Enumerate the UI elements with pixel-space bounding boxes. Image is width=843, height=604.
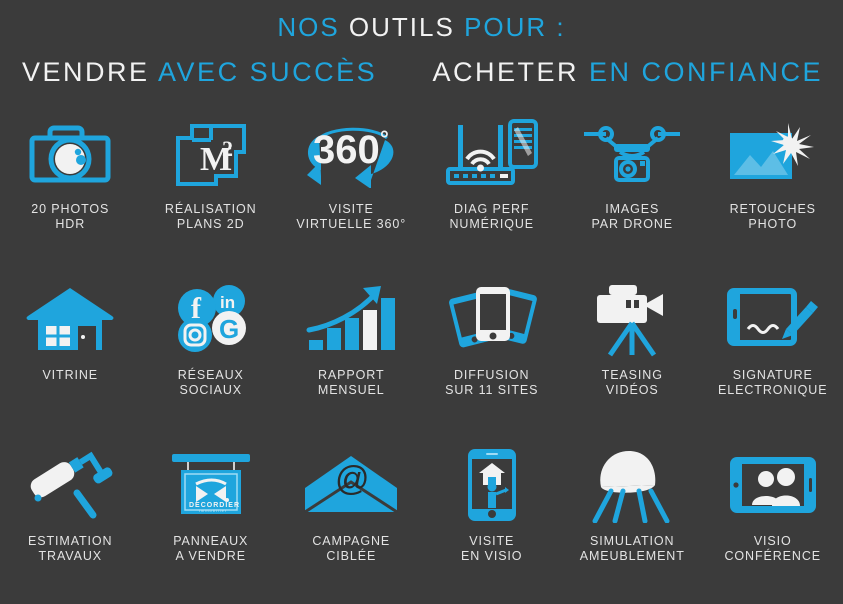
subtitle-left: VENDRE AVEC SUCCÈS [22,57,377,88]
tool-caption: VISITE EN VISIO [461,534,522,564]
tool-caption-line2: PHOTO [730,217,816,232]
tool-caption: PANNEAUX A VENDRE [173,534,248,564]
tool-photo-retouch[interactable]: RETOUCHES PHOTO [703,106,843,272]
title-part-pour: POUR : [464,12,566,42]
tool-caption-line1: SIGNATURE [718,368,827,383]
tool-caption-line1: PANNEAUX [173,534,248,549]
shop-window-icon [15,280,125,358]
tool-monthly-report[interactable]: RAPPORT MENSUEL [281,272,422,438]
tool-caption: TEASING VIDÉOS [602,368,663,398]
subtitle-right-en-confiance: EN CONFIANCE [589,57,823,87]
tool-caption-line2: VIDÉOS [602,383,663,398]
tool-caption-line2: SUR 11 SITES [445,383,538,398]
tool-caption: VITRINE [42,368,98,383]
tool-caption-line2: CIBLÉE [312,549,390,564]
tool-works-estimate[interactable]: ESTIMATION TRAVAUX [0,438,141,604]
tool-caption-line1: DIAG PERF [450,202,535,217]
social-networks-icon: in f G [156,280,266,358]
poster-root: NOS OUTILS POUR : VENDRE AVEC SUCCÈS ACH… [0,0,843,600]
paint-roller-icon [15,446,125,524]
subtitle-right: ACHETER EN CONFIANCE [432,57,823,88]
tool-social-networks[interactable]: in f G RÉSEAUX SOCIAUX [141,272,282,438]
degree-symbol: ° [380,126,389,151]
tool-teasing-videos[interactable]: TEASING VIDÉOS [562,272,703,438]
tools-grid: 20 PHOTOS HDR M 2 RÉALISATION PLANS 2D [0,106,843,604]
tool-caption-line1: RÉSEAUX [178,368,244,383]
tool-drone[interactable]: IMAGES PAR DRONE [562,106,703,272]
tool-caption: IMAGES PAR DRONE [592,202,674,232]
title-part-nos: NOS [277,12,339,42]
tool-caption: DIFFUSION SUR 11 SITES [445,368,538,398]
tool-caption-line1: VISITE [461,534,522,549]
tool-caption-line1: ESTIMATION [28,534,112,549]
tool-video-visit[interactable]: VISITE EN VISIO [422,438,563,604]
tool-caption-line2: ELECTRONIQUE [718,383,827,398]
360-number: 360 [313,128,380,172]
tool-caption-line2: NUMÉRIQUE [450,217,535,232]
tool-caption-line2: A VENDRE [173,549,248,564]
tool-caption-line1: RAPPORT [318,368,385,383]
email-campaign-icon: @ [296,446,406,524]
sign-sub-label: immobilier [199,508,227,513]
tool-caption-line2: PAR DRONE [592,217,674,232]
tool-caption-line1: RÉALISATION [165,202,257,217]
tool-caption: VISITE VIRTUELLE 360° [296,202,406,232]
tool-caption: RÉSEAUX SOCIAUX [178,368,244,398]
tool-video-conference[interactable]: VISIO CONFÉRENCE [703,438,843,604]
at-symbol: @ [335,460,370,498]
e-signature-icon [718,280,828,358]
tablets-icon [437,280,547,358]
tool-caption: 20 PHOTOS HDR [31,202,109,232]
tool-caption-line2: EN VISIO [461,549,522,564]
floorplan-m2-icon: M 2 [156,114,266,192]
tool-caption: RAPPORT MENSUEL [318,368,385,398]
tool-caption: ESTIMATION TRAVAUX [28,534,112,564]
linkedin-label: in [220,293,235,312]
subtitle-left-avec-succes: AVEC SUCCÈS [158,57,377,87]
tool-caption-line1: VISITE [296,202,406,217]
tool-caption: DIAG PERF NUMÉRIQUE [450,202,535,232]
tool-e-signature[interactable]: SIGNATURE ELECTRONIQUE [703,272,843,438]
subtitle-left-vendre: VENDRE [22,57,150,87]
tool-caption-line1: VITRINE [42,368,98,383]
tool-floorplan[interactable]: M 2 RÉALISATION PLANS 2D [141,106,282,272]
tool-caption-line2: AMEUBLEMENT [580,549,685,564]
tool-caption-line1: SIMULATION [580,534,685,549]
tool-camera[interactable]: 20 PHOTOS HDR [0,106,141,272]
tool-caption-line1: DIFFUSION [445,368,538,383]
growth-chart-icon [296,280,406,358]
tool-shop-window[interactable]: VITRINE [0,272,141,438]
tool-furnishing-simulation[interactable]: SIMULATION AMEUBLEMENT [562,438,703,604]
tool-caption: RÉALISATION PLANS 2D [165,202,257,232]
chair-icon [577,446,687,524]
page-title: NOS OUTILS POUR : [0,0,843,43]
subtitle-row: VENDRE AVEC SUCCÈS ACHETER EN CONFIANCE [0,43,843,88]
tool-caption-line2: CONFÉRENCE [724,549,821,564]
tool-caption: SIGNATURE ELECTRONIQUE [718,368,827,398]
video-conference-icon [718,446,828,524]
m2-exponent: 2 [222,136,233,161]
tool-caption-line2: TRAVAUX [28,549,112,564]
photo-retouch-icon [718,114,828,192]
tool-email-campaign[interactable]: @ CAMPAGNE CIBLÉE [281,438,422,604]
tool-caption: VISIO CONFÉRENCE [724,534,821,564]
tool-for-sale-sign[interactable]: DECORDIER immobilier PANNEAUX A VENDRE [141,438,282,604]
subtitle-right-acheter: ACHETER [432,57,579,87]
phone-visit-icon [437,446,547,524]
tool-caption-line1: RETOUCHES [730,202,816,217]
for-sale-sign-icon: DECORDIER immobilier [156,446,266,524]
drone-icon [577,114,687,192]
tool-caption-line1: CAMPAGNE [312,534,390,549]
tool-caption-line2: SOCIAUX [178,383,244,398]
360-degree-icon: 360 ° [296,114,406,192]
tool-caption-line2: VIRTUELLE 360° [296,217,406,232]
tool-caption-line2: HDR [31,217,109,232]
tool-caption-line1: IMAGES [592,202,674,217]
video-camera-icon [577,280,687,358]
tool-caption-line1: TEASING [602,368,663,383]
tool-digital-diagnostic[interactable]: DIAG PERF NUMÉRIQUE [422,106,563,272]
tool-caption: CAMPAGNE CIBLÉE [312,534,390,564]
tool-caption-line1: 20 PHOTOS [31,202,109,217]
camera-icon [15,114,125,192]
google-label: G [219,314,239,344]
tool-caption-line2: PLANS 2D [165,217,257,232]
tool-diffusion[interactable]: DIFFUSION SUR 11 SITES [422,272,563,438]
title-part-outils: OUTILS [349,12,455,42]
tool-caption: SIMULATION AMEUBLEMENT [580,534,685,564]
tool-caption: RETOUCHES PHOTO [730,202,816,232]
tool-caption-line1: VISIO [724,534,821,549]
tool-caption-line2: MENSUEL [318,383,385,398]
tool-virtual-tour[interactable]: 360 ° VISITE VIRTUELLE 360° [281,106,422,272]
router-wifi-icon [437,114,547,192]
